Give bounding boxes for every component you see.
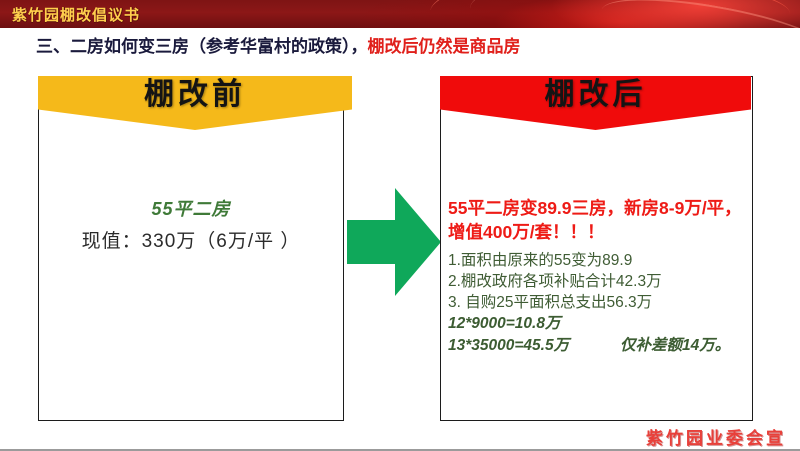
- before-panel-content: 55平二房 现值：330万（6万/平 ）: [38, 196, 344, 256]
- header-banner: 紫竹园棚改倡议书: [0, 0, 800, 28]
- before-panel-banner-label: 棚改前: [144, 76, 246, 113]
- after-panel-content: 55平二房变89.9三房，新房8-9万/平，增值400万/套！！！ 1.面积由原…: [448, 196, 748, 357]
- calculation-row: 13*35000=45.5万 仅补差额14万。: [448, 335, 748, 357]
- calculation-note: 仅补差额14万。: [620, 335, 730, 357]
- banner-swirl-decoration: [529, 0, 791, 28]
- section-heading-main: 三、二房如何变三房（参考华富村的政策），: [36, 37, 368, 56]
- after-headline: 55平二房变89.9三房，新房8-9万/平，增值400万/套！！！: [448, 196, 748, 244]
- section-heading: 三、二房如何变三房（参考华富村的政策），棚改后仍然是商品房: [36, 36, 521, 58]
- arrow-right-icon: [347, 186, 441, 298]
- transition-arrow: [347, 186, 441, 298]
- banner-title: 紫竹园棚改倡议书: [12, 4, 140, 25]
- calculation-expression: 12*9000=10.8万: [448, 313, 620, 335]
- list-item: 1.面积由原来的55变为89.9: [448, 250, 748, 271]
- footer-signature: 紫竹园业委会宣: [646, 424, 786, 449]
- banner-swirl-decoration: [469, 0, 771, 28]
- before-current-value: 现值：330万（6万/平 ）: [38, 228, 344, 256]
- calculation-row: 12*9000=10.8万: [448, 313, 748, 335]
- list-item: 3. 自购25平面积总支出56.3万: [448, 292, 748, 313]
- list-item: 2.棚改政府各项补贴合计42.3万: [448, 271, 748, 292]
- calculation-expression: 13*35000=45.5万: [448, 335, 620, 357]
- after-calculation-list: 12*9000=10.8万 13*35000=45.5万 仅补差额14万。: [448, 313, 748, 357]
- after-item-list: 1.面积由原来的55变为89.9 2.棚改政府各项补贴合计42.3万 3. 自购…: [448, 250, 748, 313]
- after-panel-banner-label: 棚改后: [545, 76, 647, 113]
- before-headline: 55平二房: [38, 196, 344, 222]
- banner-swirl-decoration: [598, 0, 800, 28]
- banner-swirl-decoration: [428, 0, 762, 28]
- section-heading-accent: 棚改后仍然是商品房: [368, 37, 521, 56]
